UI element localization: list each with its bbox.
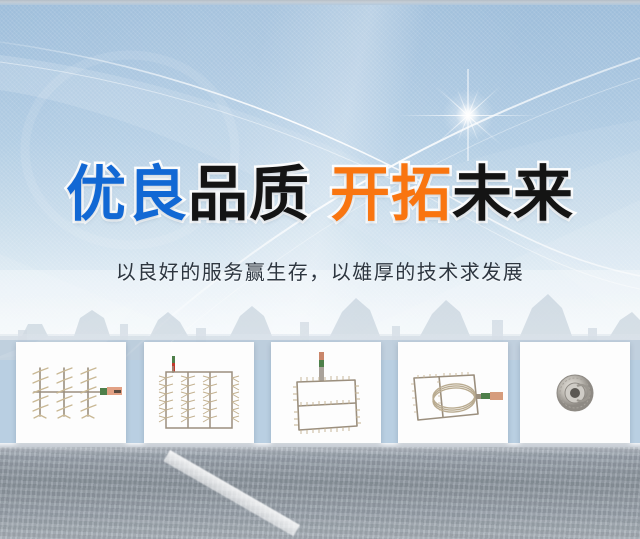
product-image-rectangular-multi-rail-hook-rack bbox=[144, 342, 254, 443]
ground-surface bbox=[0, 443, 640, 539]
headline-segment-4: 未来 bbox=[452, 160, 574, 230]
product-image-radial-spike-hub-rack bbox=[520, 342, 630, 443]
product-image-rectangular-frame-rack bbox=[271, 342, 381, 443]
product-image-multi-branch-hook-rail-rack bbox=[16, 342, 126, 443]
product-card-3[interactable] bbox=[271, 342, 381, 443]
product-card-4[interactable] bbox=[398, 342, 508, 443]
headline: 优良品质 开拓未来 bbox=[0, 160, 640, 230]
product-card-1[interactable] bbox=[16, 342, 126, 443]
headline-segment-1: 优良 bbox=[66, 160, 188, 230]
subtitle: 以良好的服务赢生存，以雄厚的技术求发展 bbox=[0, 258, 640, 286]
headline-segment-2: 品质 bbox=[188, 160, 310, 230]
product-card-2[interactable] bbox=[144, 342, 254, 443]
headline-gap bbox=[310, 160, 330, 230]
product-thumbnail-strip bbox=[0, 342, 640, 446]
product-card-5[interactable] bbox=[520, 342, 630, 443]
promo-banner: 优良品质 开拓未来 以良好的服务赢生存，以雄厚的技术求发展 bbox=[0, 0, 640, 539]
product-image-flat-frame-ring-rack bbox=[398, 342, 508, 443]
headline-segment-3: 开拓 bbox=[330, 160, 452, 230]
